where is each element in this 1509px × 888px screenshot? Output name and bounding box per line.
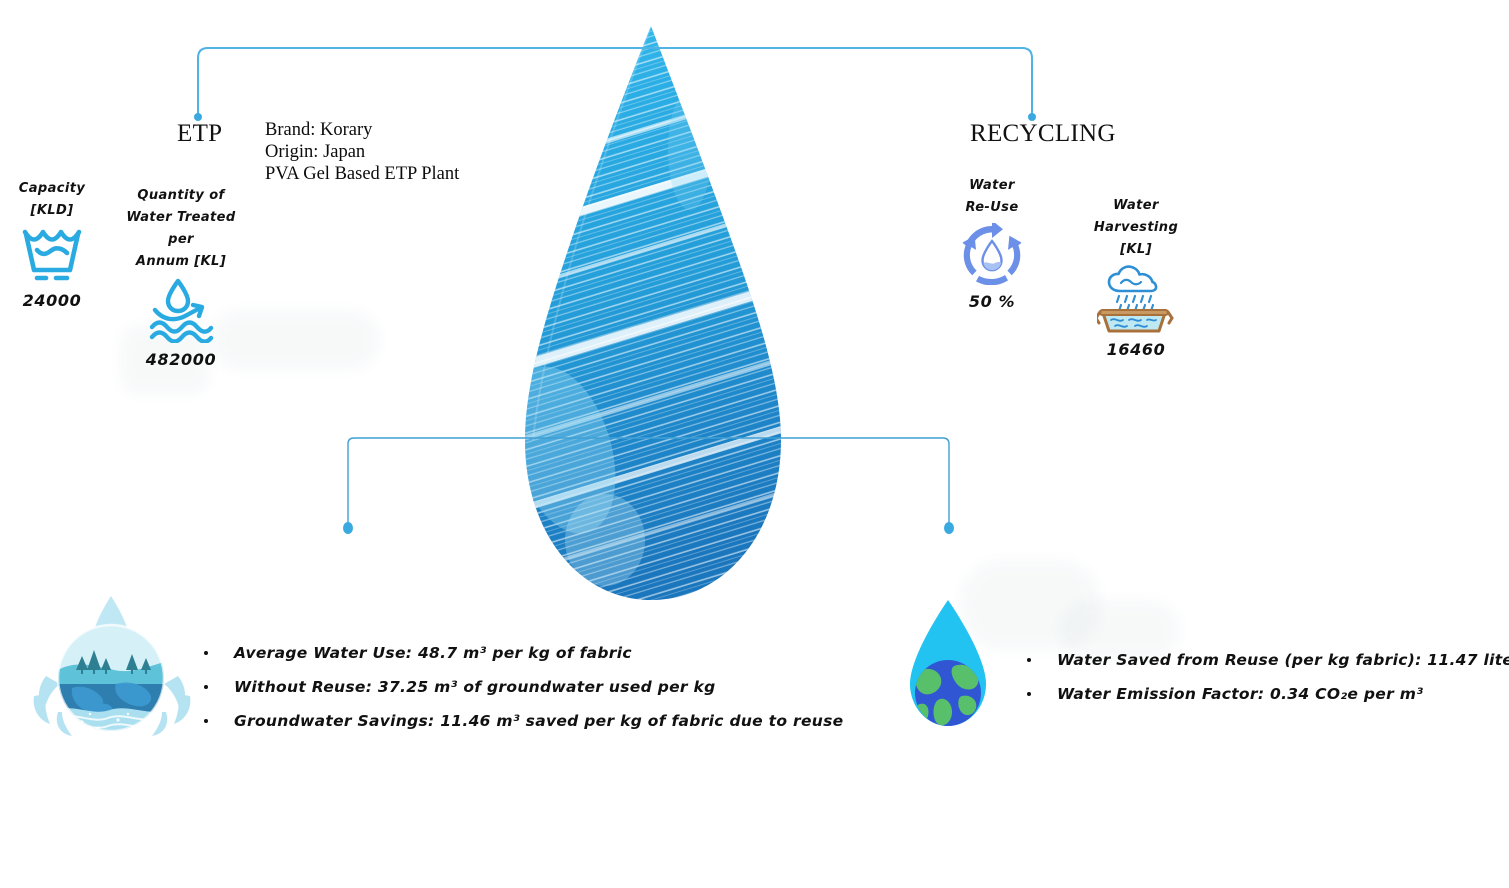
recycle-droplet-icon bbox=[948, 223, 1036, 290]
metric-reuse-value: 50 % bbox=[948, 292, 1036, 311]
list-item: Average Water Use: 48.7 m³ per kg of fab… bbox=[200, 636, 843, 670]
rain-harvest-icon bbox=[1076, 265, 1196, 338]
metric-quantity-value: 482000 bbox=[120, 350, 242, 369]
metric-capacity-label: Capacity [KLD] bbox=[4, 178, 100, 222]
metric-harvest-value: 16460 bbox=[1076, 340, 1196, 359]
metric-harvest-label: Water Harvesting [KL] bbox=[1076, 195, 1196, 261]
brand-info-block: Brand: Korary Origin: Japan PVA Gel Base… bbox=[265, 119, 459, 185]
water-droplet-graphic bbox=[455, 20, 855, 610]
metric-capacity: Capacity [KLD] 24000 bbox=[4, 178, 100, 310]
notes-right-list: Water Saved from Reuse (per kg fabric): … bbox=[1023, 643, 1509, 711]
list-item: Without Reuse: 37.25 m³ of groundwater u… bbox=[200, 670, 843, 704]
globe-water-drop-icon bbox=[32, 592, 192, 752]
metric-water-harvesting: Water Harvesting [KL] bbox=[1076, 195, 1196, 359]
notes-left-list: Average Water Use: 48.7 m³ per kg of fab… bbox=[200, 636, 843, 738]
earth-droplet-icon bbox=[900, 596, 996, 751]
brand-origin-line: Origin: Japan bbox=[265, 141, 459, 163]
metric-capacity-value: 24000 bbox=[4, 291, 100, 310]
list-item: Water Saved from Reuse (per kg fabric): … bbox=[1023, 643, 1509, 677]
notes-right-block: Water Saved from Reuse (per kg fabric): … bbox=[1023, 643, 1509, 711]
metric-reuse-label: Water Re-Use bbox=[948, 175, 1036, 219]
list-item: Water Emission Factor: 0.34 CO₂e per m³ bbox=[1023, 677, 1509, 711]
metric-quantity-label: Quantity of Water Treated per Annum [KL] bbox=[120, 185, 242, 273]
infographic-canvas: ETP RECYCLING Brand: Korary Origin: Japa… bbox=[0, 0, 1509, 888]
section-title-recycling: RECYCLING bbox=[970, 120, 1116, 148]
brand-plant-type-line: PVA Gel Based ETP Plant bbox=[265, 163, 459, 185]
section-title-etp: ETP bbox=[177, 120, 222, 148]
washing-tub-icon bbox=[4, 226, 100, 289]
droplet-waves-icon bbox=[120, 277, 242, 348]
metric-water-reuse: Water Re-Use 50 % bbox=[948, 175, 1036, 311]
metric-quantity-water-treated: Quantity of Water Treated per Annum [KL]… bbox=[120, 185, 242, 369]
list-item: Groundwater Savings: 11.46 m³ saved per … bbox=[200, 704, 843, 738]
brand-name-line: Brand: Korary bbox=[265, 119, 459, 141]
notes-left-block: Average Water Use: 48.7 m³ per kg of fab… bbox=[200, 636, 843, 738]
